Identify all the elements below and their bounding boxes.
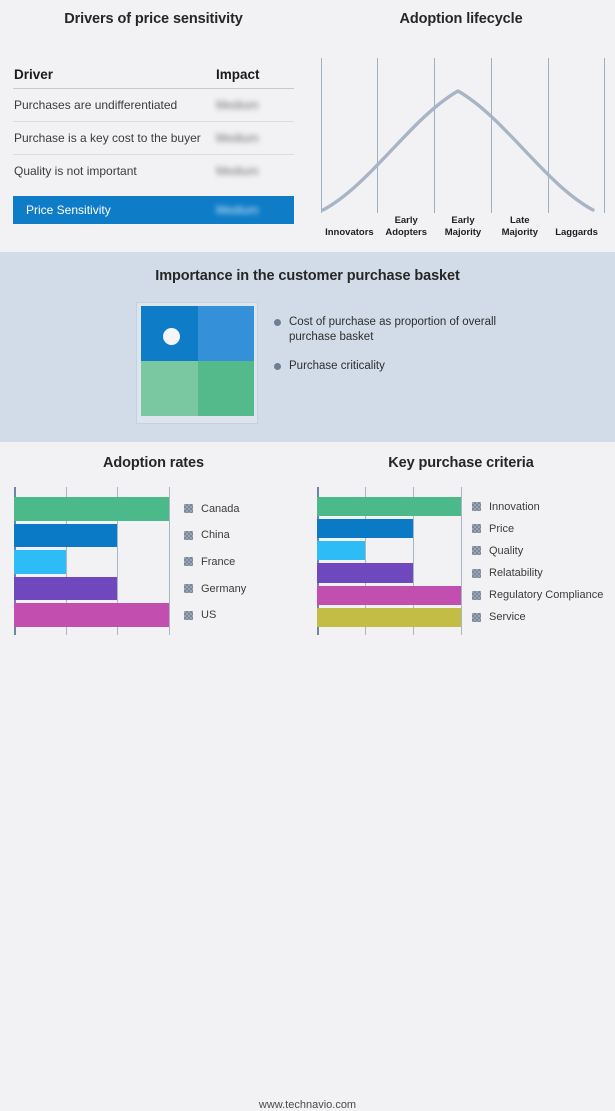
impact-blurred-text: Medium xyxy=(216,164,259,178)
stage-line2: Innovators xyxy=(325,227,374,239)
drivers-title: Drivers of price sensitivity xyxy=(0,11,307,27)
legend-item[interactable]: France xyxy=(184,550,294,574)
bar-row[interactable] xyxy=(317,586,463,605)
legend-item: Cost of purchase as proportion of overal… xyxy=(274,315,594,345)
basket-title: Importance in the customer purchase bask… xyxy=(0,268,615,284)
adoption-rates-title: Adoption rates xyxy=(0,455,307,471)
legend-item[interactable]: US xyxy=(184,603,294,627)
legend-label: Price xyxy=(489,523,514,535)
legend-label: Service xyxy=(489,611,526,623)
legend-swatch-icon xyxy=(472,524,481,533)
drivers-table: Driver Impact Purchases are undifferenti… xyxy=(13,60,294,224)
bullet-icon xyxy=(274,319,281,326)
bar-row[interactable] xyxy=(317,563,463,582)
legend-swatch-icon xyxy=(184,584,193,593)
quadrant-matrix xyxy=(141,306,254,416)
legend-item[interactable]: Relatability xyxy=(472,563,612,582)
legend-label: France xyxy=(201,556,235,568)
legend-label: Relatability xyxy=(489,567,543,579)
impact-blurred-text: Medium xyxy=(216,98,259,112)
matrix-cell-top-right xyxy=(198,306,255,361)
matrix-dot-marker xyxy=(163,328,180,345)
bullet-icon xyxy=(274,363,281,370)
table-row[interactable]: Purchases are undifferentiated Medium xyxy=(13,89,294,122)
lifecycle-stage-early-majority: Early Majority xyxy=(435,211,492,239)
bar-row[interactable] xyxy=(317,608,463,627)
stage-line2: Majority xyxy=(502,227,538,239)
lifecycle-title-text: Adoption lifecycle xyxy=(399,11,522,27)
stage-line1: Late xyxy=(502,215,538,227)
matrix-frame xyxy=(136,302,258,424)
lifecycle-panel: Adoption lifecycle xyxy=(307,0,615,252)
legend-label: China xyxy=(201,529,230,541)
legend-item[interactable]: China xyxy=(184,524,294,548)
column-header-driver: Driver xyxy=(13,67,216,82)
matrix-cell-top-left xyxy=(141,306,198,361)
bottom-section: Adoption rates CanadaChinaFranceGermanyU… xyxy=(0,442,615,680)
legend-swatch-icon xyxy=(472,569,481,578)
lifecycle-stage-early-adopters: Early Adopters xyxy=(378,211,435,239)
legend-swatch-icon xyxy=(472,591,481,600)
legend-swatch-icon xyxy=(184,611,193,620)
bar[interactable] xyxy=(14,524,117,548)
legend-swatch-icon xyxy=(472,502,481,511)
bar[interactable] xyxy=(317,563,413,582)
bar-row[interactable] xyxy=(317,541,463,560)
top-section: Drivers of price sensitivity Driver Impa… xyxy=(0,0,615,252)
table-row-highlighted[interactable]: Price Sensitivity Medium xyxy=(13,196,294,224)
lifecycle-stage-laggards: Laggards xyxy=(548,211,605,239)
basket-legend: Cost of purchase as proportion of overal… xyxy=(274,315,594,388)
bar-group xyxy=(317,497,463,627)
legend-item: Purchase criticality xyxy=(274,359,594,374)
bar-row[interactable] xyxy=(14,603,171,627)
legend-label: Canada xyxy=(201,503,240,515)
legend-label: Cost of purchase as proportion of overal… xyxy=(289,315,539,345)
impact-blurred-text: Medium xyxy=(216,203,259,217)
bar[interactable] xyxy=(317,519,413,538)
lifecycle-title: Adoption lifecycle xyxy=(307,11,615,27)
table-header-row: Driver Impact xyxy=(13,60,294,89)
legend-swatch-icon xyxy=(472,546,481,555)
stage-line2: Majority xyxy=(445,227,481,239)
bar[interactable] xyxy=(14,603,169,627)
stage-line1: Early xyxy=(445,215,481,227)
legend-label: Purchase criticality xyxy=(289,359,385,374)
impact-value: Medium xyxy=(216,131,294,145)
legend-item[interactable]: Price xyxy=(472,519,612,538)
bar[interactable] xyxy=(317,586,461,605)
adoption-rates-legend: CanadaChinaFranceGermanyUS xyxy=(184,497,294,627)
key-purchase-criteria-chart: InnovationPriceQualityRelatabilityRegula… xyxy=(317,487,609,635)
driver-label: Quality is not important xyxy=(13,164,216,178)
legend-swatch-icon xyxy=(184,531,193,540)
lifecycle-stage-innovators: Innovators xyxy=(321,211,378,239)
bar[interactable] xyxy=(14,550,66,574)
adoption-rates-chart: CanadaChinaFranceGermanyUS xyxy=(14,487,294,635)
bar[interactable] xyxy=(317,608,461,627)
key-purchase-criteria-panel: Key purchase criteria InnovationPriceQua… xyxy=(307,442,615,680)
stage-line2: Adopters xyxy=(385,227,427,239)
key-purchase-criteria-legend: InnovationPriceQualityRelatabilityRegula… xyxy=(472,497,612,627)
adoption-rates-panel: Adoption rates CanadaChinaFranceGermanyU… xyxy=(0,442,307,680)
matrix-cell-bottom-left xyxy=(141,361,198,416)
column-header-impact: Impact xyxy=(216,67,294,82)
legend-item[interactable]: Innovation xyxy=(472,497,612,516)
bar-row[interactable] xyxy=(14,550,171,574)
driver-label: Purchases are undifferentiated xyxy=(13,98,216,112)
bar-row[interactable] xyxy=(317,497,463,516)
legend-label: Germany xyxy=(201,583,246,595)
drivers-panel: Drivers of price sensitivity Driver Impa… xyxy=(0,0,307,252)
bar-row[interactable] xyxy=(14,497,171,521)
legend-item[interactable]: Service xyxy=(472,608,612,627)
lifecycle-stage-late-majority: Late Majority xyxy=(491,211,548,239)
impact-value: Medium xyxy=(216,164,294,178)
plot-area xyxy=(317,487,463,635)
bar[interactable] xyxy=(317,541,365,560)
legend-item[interactable]: Canada xyxy=(184,497,294,521)
table-row[interactable]: Quality is not important Medium xyxy=(13,155,294,187)
driver-label: Purchase is a key cost to the buyer xyxy=(13,131,216,145)
driver-label: Price Sensitivity xyxy=(25,203,216,217)
purchase-basket-section: Importance in the customer purchase bask… xyxy=(0,252,615,442)
stage-line1: Early xyxy=(385,215,427,227)
lifecycle-chart: Innovators Early Adopters Early Majority xyxy=(321,58,605,236)
impact-blurred-text: Medium xyxy=(216,131,259,145)
impact-value: Medium xyxy=(216,203,294,217)
legend-item[interactable]: Germany xyxy=(184,577,294,601)
plot-area xyxy=(14,487,171,635)
impact-value: Medium xyxy=(216,98,294,112)
key-purchase-criteria-title: Key purchase criteria xyxy=(307,455,615,471)
bar[interactable] xyxy=(14,497,169,521)
infographic-page: Drivers of price sensitivity Driver Impa… xyxy=(0,0,615,680)
bar[interactable] xyxy=(14,577,117,601)
table-row[interactable]: Purchase is a key cost to the buyer Medi… xyxy=(13,122,294,155)
legend-item[interactable]: Regulatory Compliance xyxy=(472,586,612,605)
legend-swatch-icon xyxy=(184,557,193,566)
footer-url: www.technavio.com xyxy=(0,1099,615,1111)
bell-curve-icon xyxy=(321,58,605,213)
legend-label: Innovation xyxy=(489,501,540,513)
bar-row[interactable] xyxy=(14,524,171,548)
matrix-cell-bottom-right xyxy=(198,361,255,416)
bar[interactable] xyxy=(317,497,461,516)
lifecycle-labels: Innovators Early Adopters Early Majority xyxy=(321,211,605,239)
legend-label: Regulatory Compliance xyxy=(489,589,603,601)
stage-line2: Laggards xyxy=(555,227,598,239)
legend-swatch-icon xyxy=(184,504,193,513)
legend-item[interactable]: Quality xyxy=(472,541,612,560)
bar-row[interactable] xyxy=(317,519,463,538)
legend-label: US xyxy=(201,609,216,621)
bar-row[interactable] xyxy=(14,577,171,601)
legend-label: Quality xyxy=(489,545,523,557)
legend-swatch-icon xyxy=(472,613,481,622)
bar-group xyxy=(14,497,171,627)
